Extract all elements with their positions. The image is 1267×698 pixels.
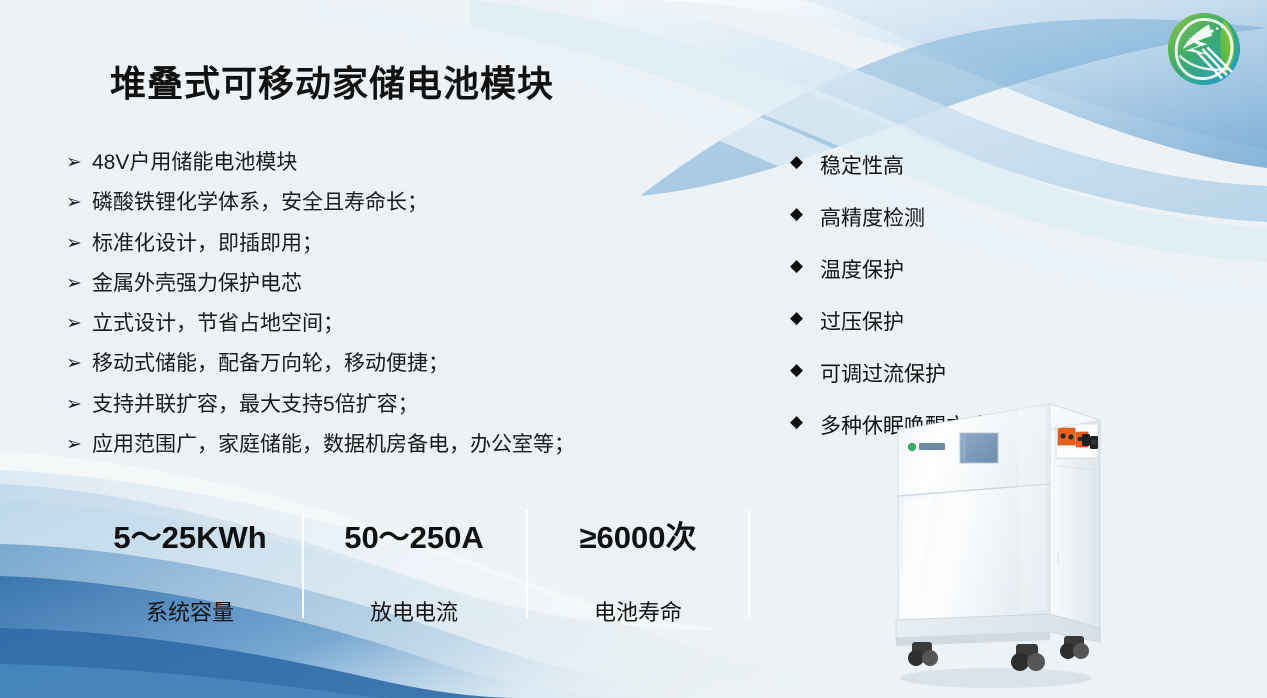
arrow-bullet-icon: ➢ [66, 351, 92, 377]
list-item-label: 立式设计，节省占地空间； [92, 311, 706, 337]
list-item: ◆ 高精度检测 [790, 202, 1090, 232]
spec-divider [302, 510, 304, 618]
arrow-bullet-icon: ➢ [66, 150, 92, 176]
list-item: ➢ 移动式储能，配备万向轮，移动便捷； [66, 351, 706, 377]
list-item: ◆ 可调过流保护 [790, 358, 1090, 388]
diamond-bullet-icon: ◆ [790, 202, 820, 227]
list-item: ◆ 过压保护 [790, 306, 1090, 336]
list-item-label: 可调过流保护 [820, 358, 1090, 388]
list-item-label: 磷酸铁锂化学体系，安全且寿命长； [92, 190, 706, 216]
list-item-label: 移动式储能，配备万向轮，移动便捷； [92, 351, 706, 377]
diamond-bullet-icon: ◆ [790, 254, 820, 279]
list-item-label: 过压保护 [820, 306, 1090, 336]
spec-divider [748, 510, 750, 618]
spec-item-cycle-life: ≥6000次 电池寿命 [526, 508, 750, 620]
list-item-label: 温度保护 [820, 254, 1090, 284]
feature-list-left: ➢ 48V户用储能电池模块 ➢ 磷酸铁锂化学体系，安全且寿命长； ➢ 标准化设计… [66, 150, 706, 472]
diamond-bullet-icon: ◆ [790, 150, 820, 175]
list-item: ➢ 标准化设计，即插即用； [66, 231, 706, 257]
list-item: ➢ 48V户用储能电池模块 [66, 150, 706, 176]
list-item: ➢ 支持并联扩容，最大支持5倍扩容； [66, 392, 706, 418]
spec-value: 5〜25KWh [113, 512, 266, 557]
spec-highlight-row: 5〜25KWh 系统容量 50〜250A 放电电流 ≥6000次 电池寿命 [78, 508, 750, 620]
list-item: ◆ 温度保护 [790, 254, 1090, 284]
spec-label: 放电电流 [370, 595, 458, 627]
list-item-label: 支持并联扩容，最大支持5倍扩容； [92, 392, 706, 418]
spec-value: ≥6000次 [580, 512, 697, 557]
list-item: ◆ 稳定性高 [790, 150, 1090, 180]
list-item-label: 48V户用储能电池模块 [92, 150, 706, 176]
list-item: ➢ 金属外壳强力保护电芯 [66, 271, 706, 297]
diamond-bullet-icon: ◆ [790, 358, 820, 383]
arrow-bullet-icon: ➢ [66, 231, 92, 257]
arrow-bullet-icon: ➢ [66, 432, 92, 458]
spec-label: 电池寿命 [594, 595, 682, 627]
spec-value: 50〜250A [344, 512, 484, 557]
page-title: 堆叠式可移动家储电池模块 [110, 55, 554, 107]
list-item-label: 金属外壳强力保护电芯 [92, 271, 706, 297]
list-item-label: 应用范围广，家庭储能，数据机房备电，办公室等； [92, 432, 706, 458]
spec-label: 系统容量 [146, 595, 234, 627]
list-item-label: 稳定性高 [820, 150, 1090, 180]
company-logo-icon [1163, 8, 1245, 90]
arrow-bullet-icon: ➢ [66, 271, 92, 297]
diamond-bullet-icon: ◆ [790, 306, 820, 331]
list-item-label: 标准化设计，即插即用； [92, 231, 706, 257]
list-item-label: 高精度检测 [820, 202, 1090, 232]
arrow-bullet-icon: ➢ [66, 392, 92, 418]
spec-divider [526, 510, 528, 618]
spec-item-current: 50〜250A 放电电流 [302, 508, 526, 620]
spec-item-capacity: 5〜25KWh 系统容量 [78, 508, 302, 620]
slide-canvas: 堆叠式可移动家储电池模块 ➢ 48V户用储能电池模块 ➢ 磷酸铁锂化学体系，安全… [0, 0, 1267, 698]
list-item: ➢ 立式设计，节省占地空间； [66, 311, 706, 337]
product-image-battery-cabinet [868, 392, 1128, 692]
arrow-bullet-icon: ➢ [66, 311, 92, 337]
diamond-bullet-icon: ◆ [790, 410, 820, 435]
list-item: ➢ 磷酸铁锂化学体系，安全且寿命长； [66, 190, 706, 216]
arrow-bullet-icon: ➢ [66, 190, 92, 216]
list-item: ➢ 应用范围广，家庭储能，数据机房备电，办公室等； [66, 432, 706, 458]
